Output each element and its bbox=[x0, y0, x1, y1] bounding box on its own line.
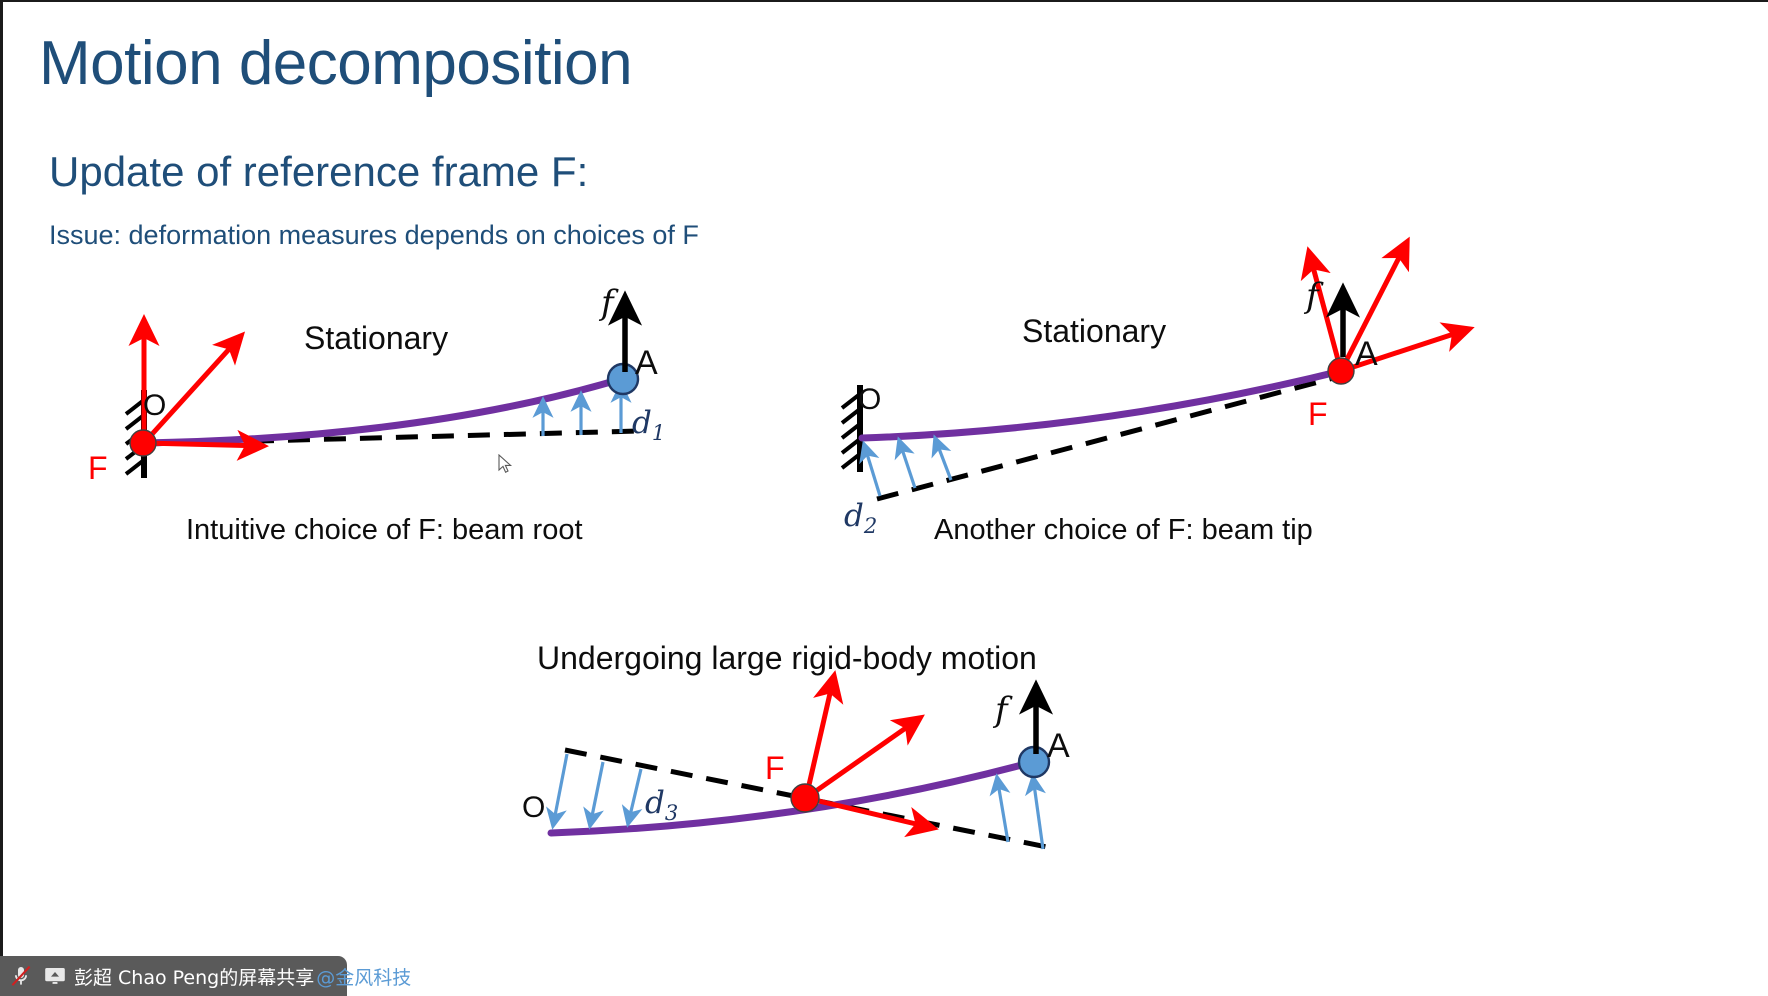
diagram-2-origin-label: O bbox=[858, 383, 881, 417]
mouse-pointer-icon bbox=[498, 454, 514, 476]
share-status-text: 彭超 Chao Peng的屏幕共享 bbox=[74, 963, 314, 990]
deflection-symbol: d bbox=[645, 785, 665, 821]
screen-share-icon[interactable] bbox=[40, 961, 70, 991]
presentation-slide: Motion decomposition Update of reference… bbox=[0, 0, 1768, 996]
deflection-index: 3 bbox=[665, 800, 678, 825]
deflection-arrows bbox=[864, 438, 951, 496]
issue-statement: Issue: deformation measures depends on c… bbox=[49, 220, 699, 251]
frame-node-marker bbox=[1328, 358, 1354, 384]
deflection-index: 2 bbox=[864, 513, 877, 538]
diagram-3-force-label: f bbox=[995, 690, 1008, 730]
screen-share-taskbar[interactable]: 彭超 Chao Peng的屏幕共享 @金风科技 bbox=[0, 956, 347, 996]
deflection-arrows-left bbox=[553, 754, 641, 826]
diagram-1-force-label: f bbox=[601, 283, 614, 323]
diagram-rigid-body bbox=[551, 676, 1049, 849]
diagram-1-heading: Stationary bbox=[304, 320, 448, 357]
diagram-1-origin-label: O bbox=[143, 389, 166, 423]
reference-frame-axes bbox=[1309, 242, 1469, 371]
deflection-index: 1 bbox=[652, 420, 665, 445]
diagram-1-tip-label: A bbox=[635, 344, 658, 383]
diagram-2-frame-label: F bbox=[1308, 396, 1328, 433]
diagram-1-frame-label: F bbox=[88, 450, 108, 487]
diagram-1-caption: Intuitive choice of F: beam root bbox=[186, 514, 583, 547]
diagram-1-deflection-label: d1 bbox=[632, 405, 665, 445]
diagram-2-caption: Another choice of F: beam tip bbox=[934, 514, 1313, 547]
diagram-2-deflection-label: d2 bbox=[844, 498, 877, 538]
diagram-2-force-label: f bbox=[1306, 276, 1319, 316]
microphone-muted-icon[interactable] bbox=[6, 961, 36, 991]
deflection-symbol: d bbox=[632, 405, 652, 441]
share-tag-text: @金风科技 bbox=[316, 963, 411, 990]
deflection-symbol: d bbox=[844, 498, 864, 534]
deformed-beam-curve bbox=[862, 371, 1341, 438]
diagram-3-deflection-label: d3 bbox=[645, 785, 678, 825]
section-heading: Update of reference frame F: bbox=[49, 148, 588, 196]
frame-node-marker bbox=[130, 430, 156, 456]
diagram-3-frame-label: F bbox=[765, 750, 785, 787]
frame-node-marker bbox=[791, 784, 819, 812]
diagram-3-heading: Undergoing large rigid-body motion bbox=[537, 640, 1037, 677]
diagram-2-heading: Stationary bbox=[1022, 313, 1166, 350]
diagram-3-origin-label: O bbox=[522, 791, 545, 825]
reference-frame-axes bbox=[144, 320, 263, 446]
diagram-2-tip-label: A bbox=[1355, 335, 1378, 374]
page-title: Motion decomposition bbox=[39, 28, 632, 99]
diagram-3-tip-label: A bbox=[1047, 727, 1070, 766]
undeformed-axis-line bbox=[877, 376, 1341, 499]
